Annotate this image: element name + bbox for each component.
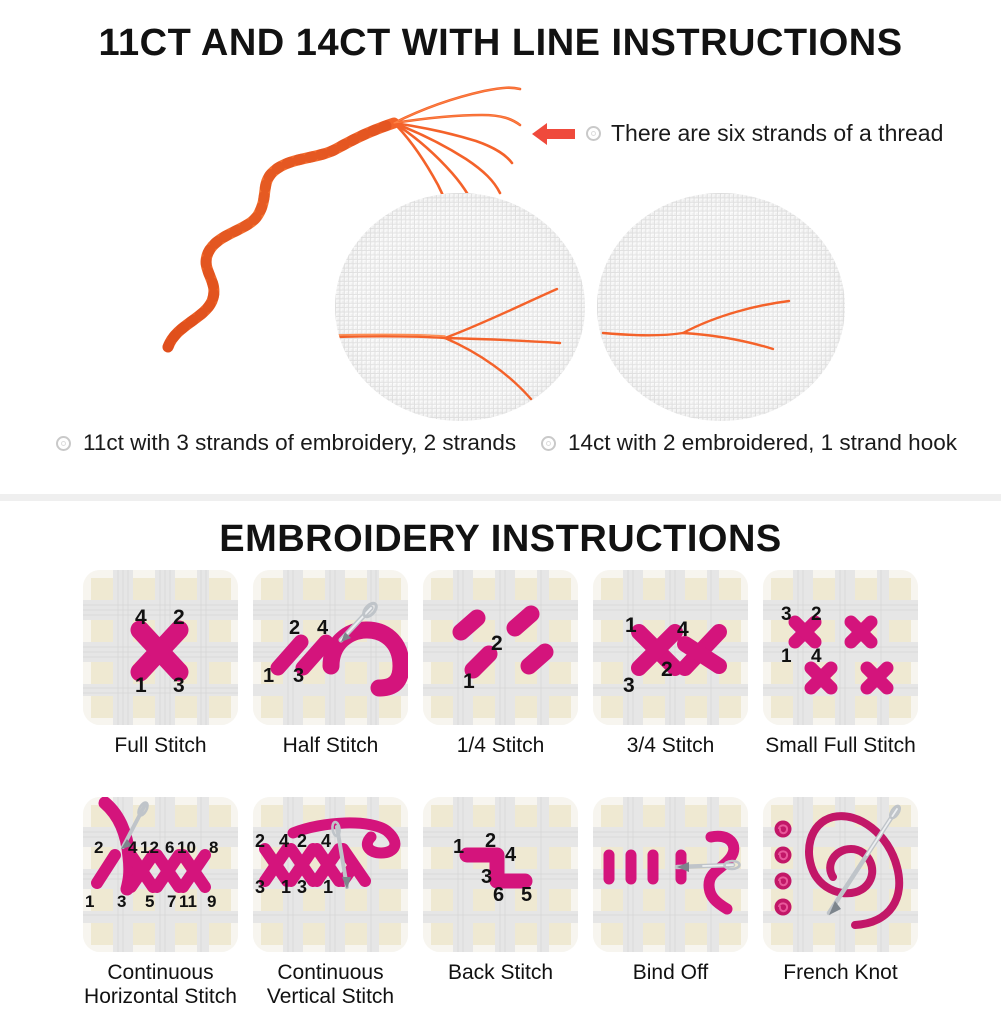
- stitch-number: 1: [135, 674, 147, 697]
- stitch-number: 10: [177, 838, 196, 857]
- stitch-number: 2: [485, 830, 496, 852]
- stitch-number: 1: [85, 892, 94, 911]
- circle-shading-14ct: [597, 193, 845, 421]
- circle-bullet-icon: [586, 126, 601, 141]
- stitch-diagram-continuous-vertical-stitch: 2 4 2 4 3 1 3 1: [253, 797, 408, 952]
- stitch-diagram-bind-off: [593, 797, 748, 952]
- stitch-number: 3: [117, 892, 126, 911]
- stitch-tile-french-knot: [763, 797, 918, 952]
- stitch-number: 12: [140, 838, 159, 857]
- stitch-number: 2: [255, 831, 265, 851]
- stitch-diagram-small-full-stitch: 3 2 1 4: [763, 570, 918, 725]
- circle-bullet-icon: [541, 436, 556, 451]
- stitch-tile-continuous-horizontal-stitch: 2 4 12 6 10 8 1 3 5 7 11 9: [83, 797, 238, 952]
- stitch-number: 5: [145, 892, 154, 911]
- stitch-number: 4: [505, 844, 517, 866]
- stitch-grid-row-2: 2 4 12 6 10 8 1 3 5 7 11 9 Continuo: [0, 797, 1001, 1009]
- page-title-top: 11CT AND 14CT WITH LINE INSTRUCTIONS: [0, 22, 1001, 65]
- stitch-number: 7: [167, 892, 176, 911]
- stitch-number: 2: [289, 617, 300, 639]
- stitch-label-back-stitch: Back Stitch: [416, 961, 586, 985]
- stitch-number: 3: [781, 604, 792, 625]
- caption-14ct: 14ct with 2 embroidered, 1 strand hook: [541, 430, 957, 456]
- stitch-label-half-stitch: Half Stitch: [246, 734, 416, 758]
- stitch-cell-bind-off: Bind Off: [586, 797, 756, 1009]
- stitch-number: 2: [491, 632, 503, 655]
- stitch-cell-continuous-vertical-stitch: 2 4 2 4 3 1 3 1 Continuous Vertical Stit…: [246, 797, 416, 1009]
- stitch-number: 3: [297, 877, 307, 897]
- stitch-number: 11: [179, 892, 197, 911]
- stitch-number: 4: [128, 838, 138, 857]
- stitch-cell-half-stitch: 2 4 1 3 Half Stitch: [246, 570, 416, 758]
- stitch-number: 6: [165, 838, 174, 857]
- stitch-number: 4: [317, 617, 329, 639]
- stitch-diagram-continuous-horizontal-stitch: 2 4 12 6 10 8 1 3 5 7 11 9: [83, 797, 238, 952]
- stitch-diagram-back-stitch: 1 2 4 3 6 5: [423, 797, 578, 952]
- infographic-page: 11CT AND 14CT WITH LINE INSTRUCTIONS: [0, 0, 1001, 1001]
- stitch-label-continuous-horizontal-stitch: Continuous Horizontal Stitch: [76, 961, 246, 1009]
- stitch-grid-row-1: 4 2 1 3 Full Stitch: [0, 570, 1001, 758]
- stitch-diagram-quarter-stitch: 2 1: [423, 570, 578, 725]
- stitch-diagram-half-stitch: 2 4 1 3: [253, 570, 408, 725]
- stitch-number: 1: [781, 646, 792, 667]
- stitch-number: 6: [493, 884, 504, 906]
- stitch-tile-small-full-stitch: 3 2 1 4: [763, 570, 918, 725]
- caption-14ct-text: 14ct with 2 embroidered, 1 strand hook: [568, 430, 957, 456]
- stitch-cell-continuous-horizontal-stitch: 2 4 12 6 10 8 1 3 5 7 11 9 Continuo: [76, 797, 246, 1009]
- knot-dots: [775, 821, 792, 916]
- stitch-tile-continuous-vertical-stitch: 2 4 2 4 3 1 3 1: [253, 797, 408, 952]
- stitch-number: 3: [173, 674, 185, 697]
- stitch-tile-quarter-stitch: 2 1: [423, 570, 578, 725]
- stitch-label-three-quarter-stitch: 3/4 Stitch: [586, 734, 756, 758]
- stitch-number: 4: [677, 618, 689, 641]
- stitch-number: 2: [94, 838, 103, 857]
- stitch-cell-three-quarter-stitch: 1 4 2 3 3/4 Stitch: [586, 570, 756, 758]
- stitch-label-full-stitch: Full Stitch: [76, 734, 246, 758]
- stitch-number: 1: [281, 877, 291, 897]
- stitch-number: 3: [293, 665, 304, 687]
- stitch-label-small-full-stitch: Small Full Stitch: [756, 734, 926, 758]
- stitch-cell-quarter-stitch: 2 1 1/4 Stitch: [416, 570, 586, 758]
- stitch-number: 1: [463, 670, 475, 693]
- page-title-bottom: EMBROIDERY INSTRUCTIONS: [0, 518, 1001, 561]
- stitch-number: 2: [297, 831, 307, 851]
- stitch-number: 2: [173, 606, 185, 629]
- stitch-number: 1: [625, 614, 637, 637]
- section-line-instructions: 11CT AND 14CT WITH LINE INSTRUCTIONS: [0, 0, 1001, 494]
- circle-shading-11ct: [335, 193, 585, 421]
- stitch-tile-bind-off: [593, 797, 748, 952]
- stitch-number: 1: [323, 877, 333, 897]
- stitch-cell-french-knot: French Knot: [756, 797, 926, 1009]
- stitch-cell-small-full-stitch: 3 2 1 4 Small Full Stitch: [756, 570, 926, 758]
- stitch-number: 4: [279, 831, 289, 851]
- six-strands-text: There are six strands of a thread: [611, 120, 943, 147]
- stitch-number: 4: [135, 606, 147, 629]
- stitch-number: 1: [263, 665, 274, 687]
- stitch-number: 9: [207, 892, 216, 911]
- stitch-cell-full-stitch: 4 2 1 3 Full Stitch: [76, 570, 246, 758]
- stitch-number: 2: [811, 604, 822, 625]
- section-divider: [0, 494, 1001, 501]
- stitch-label-quarter-stitch: 1/4 Stitch: [416, 734, 586, 758]
- caption-11ct-text: 11ct with 3 strands of embroidery, 2 str…: [83, 430, 516, 456]
- stitch-cell-back-stitch: 1 2 4 3 6 5 Back Stitch: [416, 797, 586, 1009]
- circle-bullet-icon: [56, 436, 71, 451]
- six-strands-note: There are six strands of a thread: [532, 120, 943, 147]
- fabric-sample-11ct: [335, 193, 585, 421]
- stitch-tile-back-stitch: 1 2 4 3 6 5: [423, 797, 578, 952]
- arrow-left-icon: [532, 121, 576, 147]
- stitch-diagram-three-quarter-stitch: 1 4 2 3: [593, 570, 748, 725]
- stitch-tile-three-quarter-stitch: 1 4 2 3: [593, 570, 748, 725]
- stitch-number: 3: [623, 674, 635, 697]
- fabric-sample-14ct: [597, 193, 845, 421]
- stitch-diagram-french-knot: [763, 797, 918, 952]
- stitch-number: 4: [811, 646, 822, 667]
- stitch-number: 3: [481, 866, 492, 888]
- stitch-tile-half-stitch: 2 4 1 3: [253, 570, 408, 725]
- stitch-number: 4: [321, 831, 331, 851]
- stitch-diagram-full-stitch: 4 2 1 3: [83, 570, 238, 725]
- stitch-number: 5: [521, 884, 532, 906]
- stitch-label-continuous-vertical-stitch: Continuous Vertical Stitch: [246, 961, 416, 1009]
- stitch-number: 3: [255, 877, 265, 897]
- stitch-tile-full-stitch: 4 2 1 3: [83, 570, 238, 725]
- stitch-number: 2: [661, 658, 673, 681]
- stitch-number: 1: [453, 836, 464, 858]
- sample-captions-row: 11ct with 3 strands of embroidery, 2 str…: [0, 430, 1001, 464]
- stitch-label-french-knot: French Knot: [756, 961, 926, 985]
- stitch-label-bind-off: Bind Off: [586, 961, 756, 985]
- stitch-number: 8: [209, 838, 218, 857]
- caption-11ct: 11ct with 3 strands of embroidery, 2 str…: [56, 430, 516, 456]
